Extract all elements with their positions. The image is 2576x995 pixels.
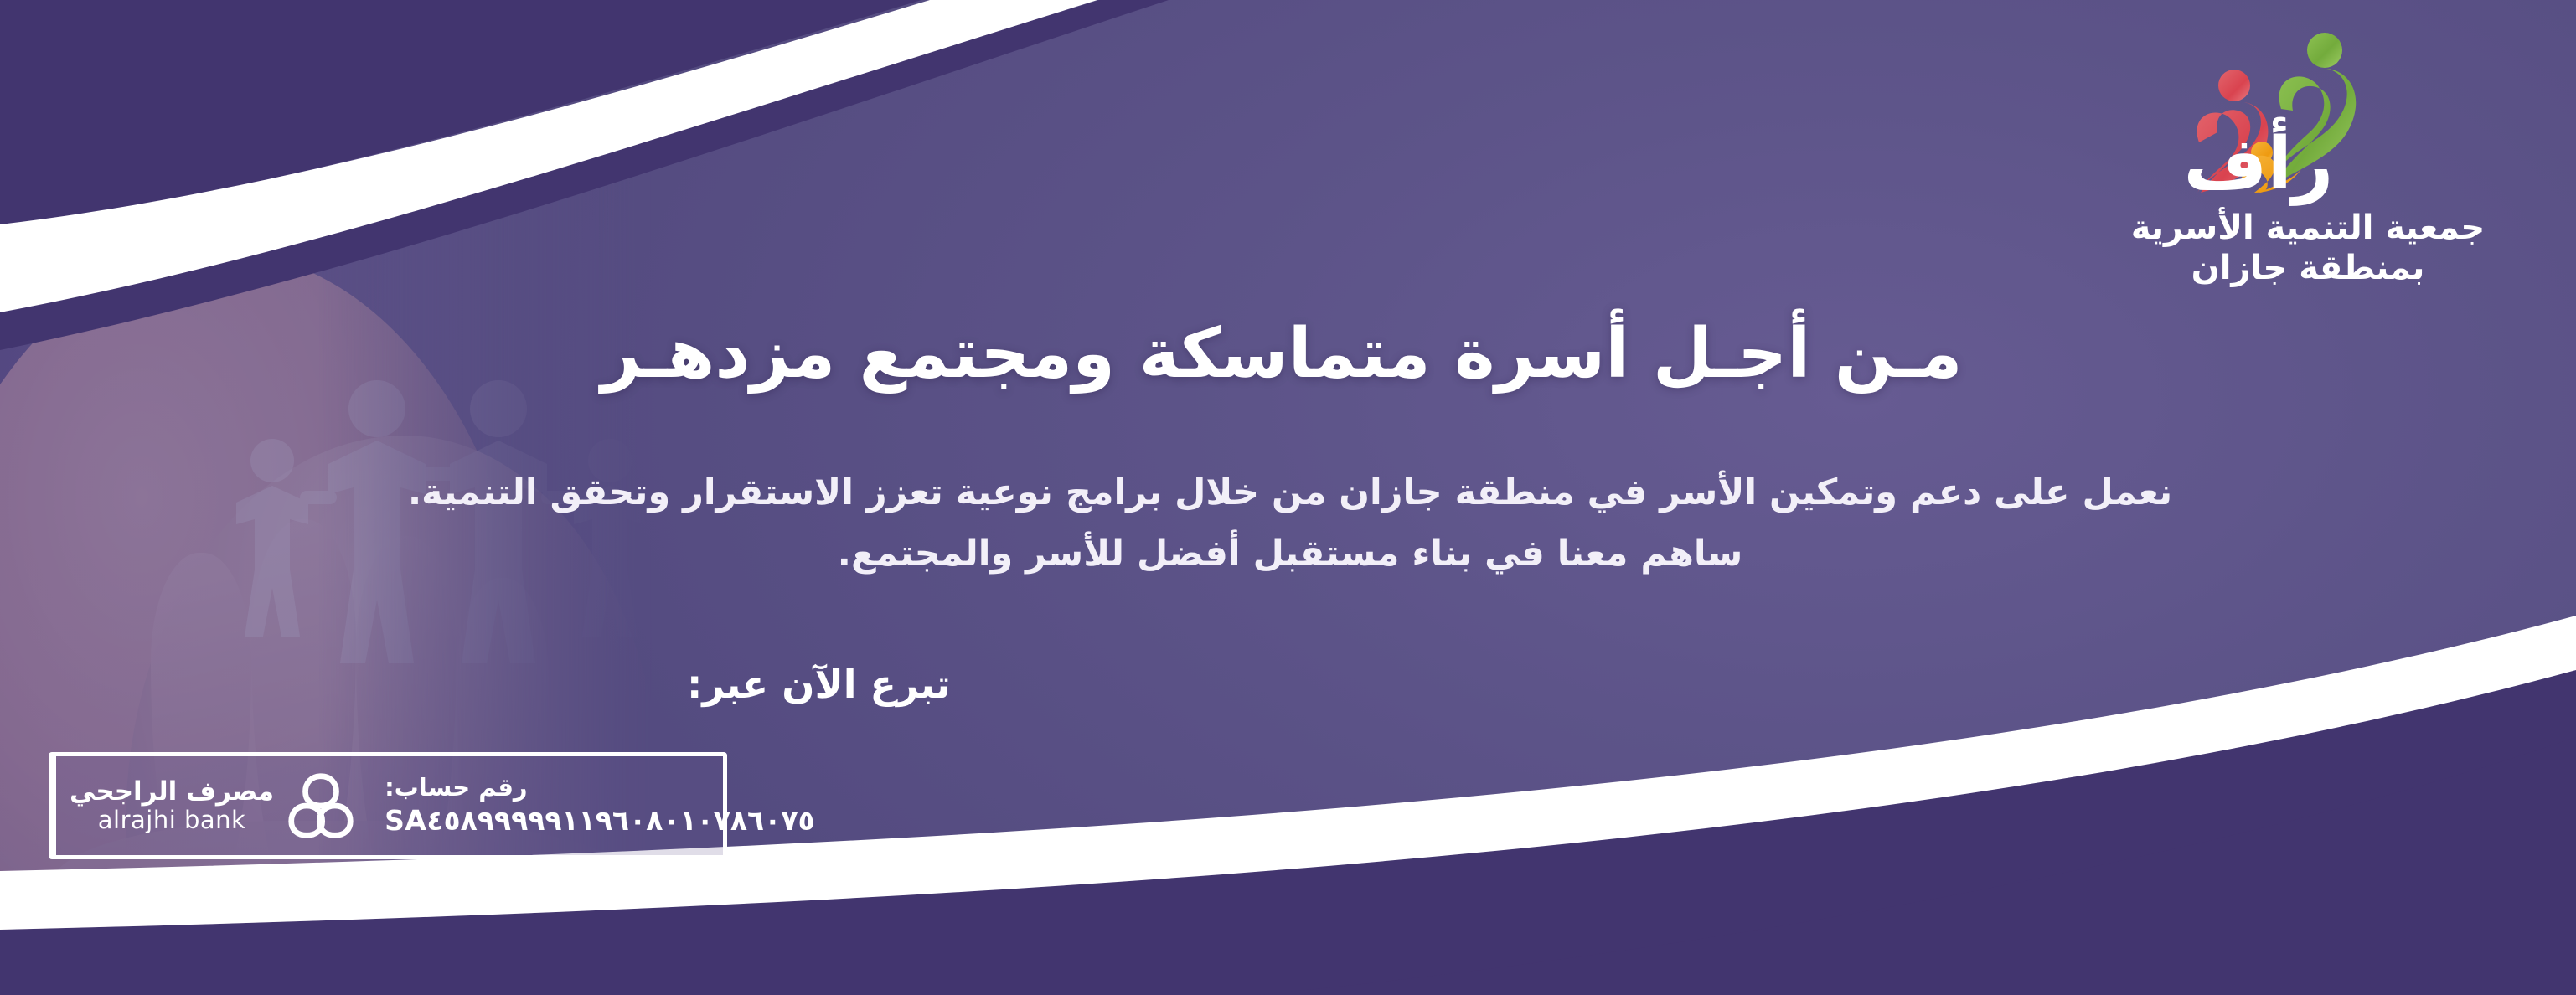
bank-name-english: alrajhi bank — [70, 807, 274, 833]
bank-account-box[interactable]: مصرف الراجحي alrajhi bank رقم حساب: SA٤٥… — [49, 752, 727, 859]
headline: مـن أجـل أسرة متماسكة ومجتمع مزدهـر — [431, 317, 2132, 392]
logo-wordmark: رأف — [2090, 132, 2427, 197]
alrajhi-bank-icon — [286, 771, 356, 841]
account-details: رقم حساب: SA٤٥٨٩٩٩٩٩١١٩٦٠٨٠١٠٧٨٦٠٧٥ — [373, 756, 834, 855]
body-copy: نعمل على دعم وتمكين الأسر في منطقة جازان… — [406, 466, 2174, 580]
donate-now-label: تبرع الآن عبر: — [687, 662, 951, 707]
bank-names: مصرف الراجحي alrajhi bank — [70, 777, 274, 833]
bank-name-arabic: مصرف الراجحي — [70, 777, 274, 807]
logo-org-line-1: جمعية التنمية الأسرية — [2090, 209, 2526, 248]
account-iban-value[interactable]: SA٤٥٨٩٩٩٩٩١١٩٦٠٨٠١٠٧٨٦٠٧٥ — [385, 804, 815, 837]
logo-org-line-2: بمنطقة جازان — [2090, 249, 2526, 288]
account-number-label: رقم حساب: — [385, 775, 528, 802]
body-copy-line-1: نعمل على دعم وتمكين الأسر في منطقة جازان… — [406, 466, 2174, 520]
body-copy-line-2: ساهم معنا في بناء مستقبل أفضل للأسر والم… — [406, 527, 2174, 581]
organization-logo-lockup: رأف جمعية التنمية الأسرية بمنطقة جازان — [2090, 25, 2526, 288]
donation-banner: رأف جمعية التنمية الأسرية بمنطقة جازان م… — [0, 0, 2576, 995]
bank-brand: مصرف الراجحي alrajhi bank — [53, 756, 373, 855]
